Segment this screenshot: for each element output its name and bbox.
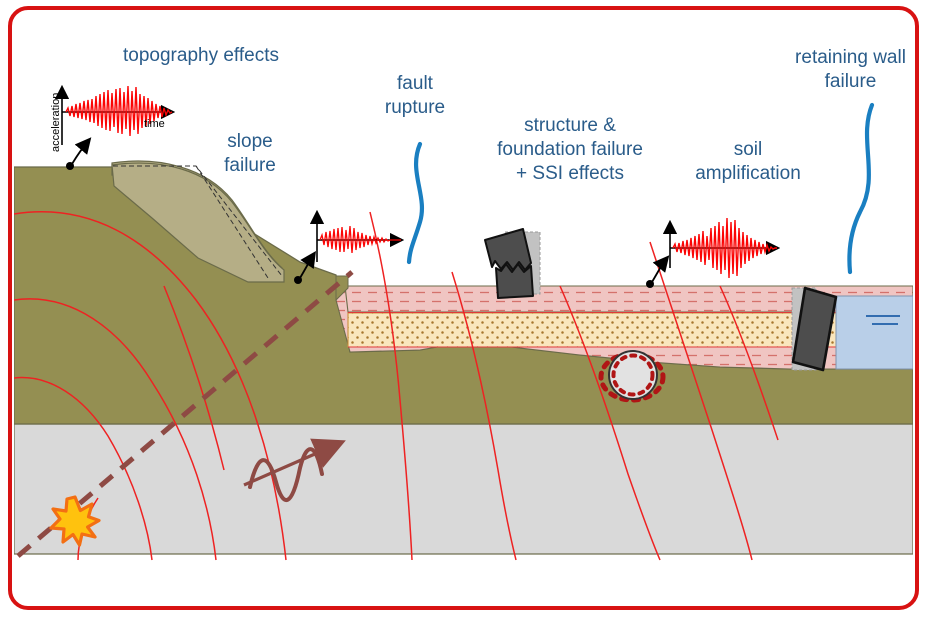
label-structure-foundation-failure: structure & foundation failure + SSI eff… xyxy=(480,114,660,186)
axis-label-acceleration: acceleration xyxy=(50,93,62,152)
building-upper-block xyxy=(485,229,531,270)
label-soil-amplification: soil amplification xyxy=(678,138,818,186)
label-retaining-wall-failure: retaining wall failure xyxy=(778,46,923,94)
seismogram-slope-toe xyxy=(317,213,401,262)
seismogram-surface-hilltop xyxy=(62,86,172,145)
label-topography-effects: topography effects xyxy=(101,44,301,68)
label-slope-failure: slope failure xyxy=(195,130,305,178)
retaining-wall-callout-curve xyxy=(849,105,872,272)
seismic-hazards-figure: topography effects slope failure fault r… xyxy=(0,0,937,622)
water-body xyxy=(836,296,913,369)
label-fault-rupture: fault rupture xyxy=(360,72,470,120)
seismogram-soft-soil xyxy=(670,218,777,278)
fault-rupture-callout-curve xyxy=(409,144,422,262)
pointer-hilltop xyxy=(66,140,89,170)
axis-label-time: time xyxy=(144,118,165,130)
